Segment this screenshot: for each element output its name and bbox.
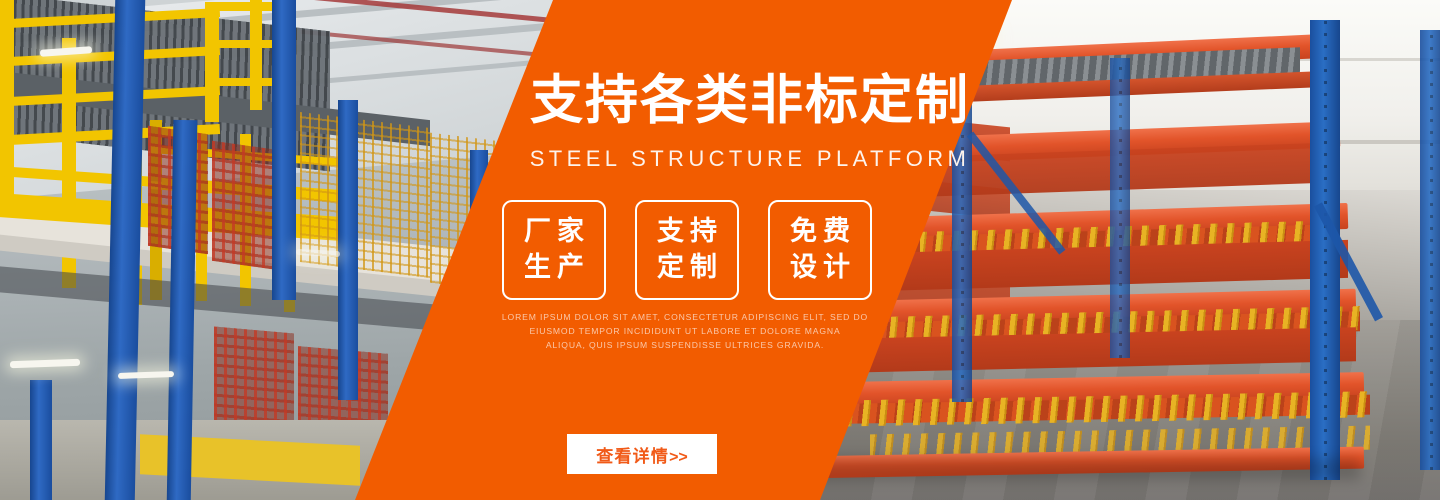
feature-line-1: 厂家	[518, 216, 590, 248]
lorem-paragraph: LOREM IPSUM DOLOR SIT AMET, CONSECTETUR …	[500, 311, 870, 353]
feature-line-2: 设计	[784, 252, 856, 284]
chevron-right-double-icon: >>	[669, 449, 688, 466]
view-details-label: 查看详情>>	[596, 442, 688, 467]
banner-subtitle: STEEL STRUCTURE PLATFORM	[500, 146, 1000, 172]
feature-box-row: 厂家 生产 支持 定制 免费 设计	[502, 200, 872, 300]
feature-box-free-design[interactable]: 免费 设计	[768, 200, 872, 300]
banner-title: 支持各类非标定制	[520, 72, 980, 129]
promo-banner: 支持各类非标定制 STEEL STRUCTURE PLATFORM 厂家 生产 …	[0, 0, 1440, 500]
feature-line-1: 支持	[651, 216, 723, 248]
lorem-line-2: EIUSMOD TEMPOR INCIDIDUNT UT LABORE ET D…	[500, 325, 870, 339]
banner-content: 支持各类非标定制 STEEL STRUCTURE PLATFORM 厂家 生产 …	[0, 0, 1440, 500]
feature-line-1: 免费	[784, 216, 856, 248]
lorem-line-3: ALIQUA, QUIS IPSUM SUSPENDISSE ULTRICES …	[500, 339, 870, 353]
feature-line-2: 定制	[651, 252, 723, 284]
feature-line-2: 生产	[518, 252, 590, 284]
view-details-text: 查看详情	[596, 447, 669, 466]
feature-box-manufacturer-production[interactable]: 厂家 生产	[502, 200, 606, 300]
feature-box-custom-support[interactable]: 支持 定制	[635, 200, 739, 300]
lorem-line-1: LOREM IPSUM DOLOR SIT AMET, CONSECTETUR …	[500, 311, 870, 325]
view-details-button[interactable]: 查看详情>>	[567, 434, 717, 474]
